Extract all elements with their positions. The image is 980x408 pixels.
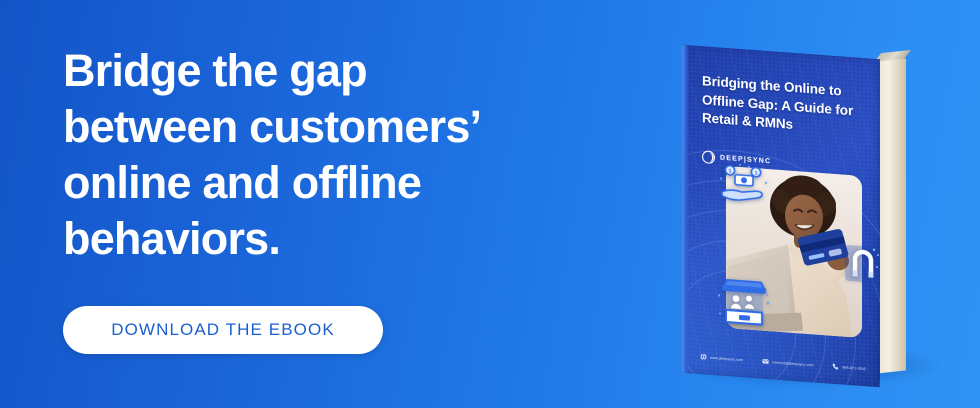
contact-email-text: connect@deepsync.com	[772, 360, 813, 367]
globe-icon	[700, 353, 707, 361]
contact-website[interactable]: www.deepsync.com	[700, 353, 743, 363]
book-title: Bridging the Online to Offline Gap: A Gu…	[702, 72, 864, 139]
page-title: Bridge the gap between customers’ online…	[63, 43, 623, 267]
contact-website-text: www.deepsync.com	[710, 355, 743, 361]
phone-icon	[832, 363, 839, 371]
storefront-icon	[716, 269, 772, 331]
magnet-icon	[844, 239, 880, 286]
cover-illustration: $ $	[718, 165, 870, 344]
promo-banner: Bridge the gap between customers’ online…	[0, 0, 980, 408]
crescent-moon-icon	[702, 150, 715, 164]
book-cover: Bridging the Online to Offline Gap: A Gu…	[682, 45, 880, 388]
download-the-ebook-button[interactable]: DOWNLOAD THE EBOOK	[63, 306, 383, 354]
email-icon	[762, 358, 769, 366]
svg-text:$: $	[728, 169, 731, 175]
contact-phone[interactable]: 866-971-3545	[832, 363, 866, 372]
hand-holding-money-icon: $ $	[718, 161, 770, 205]
book-page-edges	[876, 58, 906, 373]
copy-block: Bridge the gap between customers’ online…	[63, 43, 623, 267]
contact-phone-text: 866-971-3545	[842, 365, 866, 371]
cover-contact-strip: www.deepsync.com connect@deepsync.com	[682, 352, 880, 374]
ebook-mockup[interactable]: Bridging the Online to Offline Gap: A Gu…	[670, 16, 960, 392]
svg-text:$: $	[754, 171, 757, 177]
cover-content: Bridging the Online to Offline Gap: A Gu…	[682, 45, 880, 388]
contact-email[interactable]: connect@deepsync.com	[762, 358, 813, 369]
